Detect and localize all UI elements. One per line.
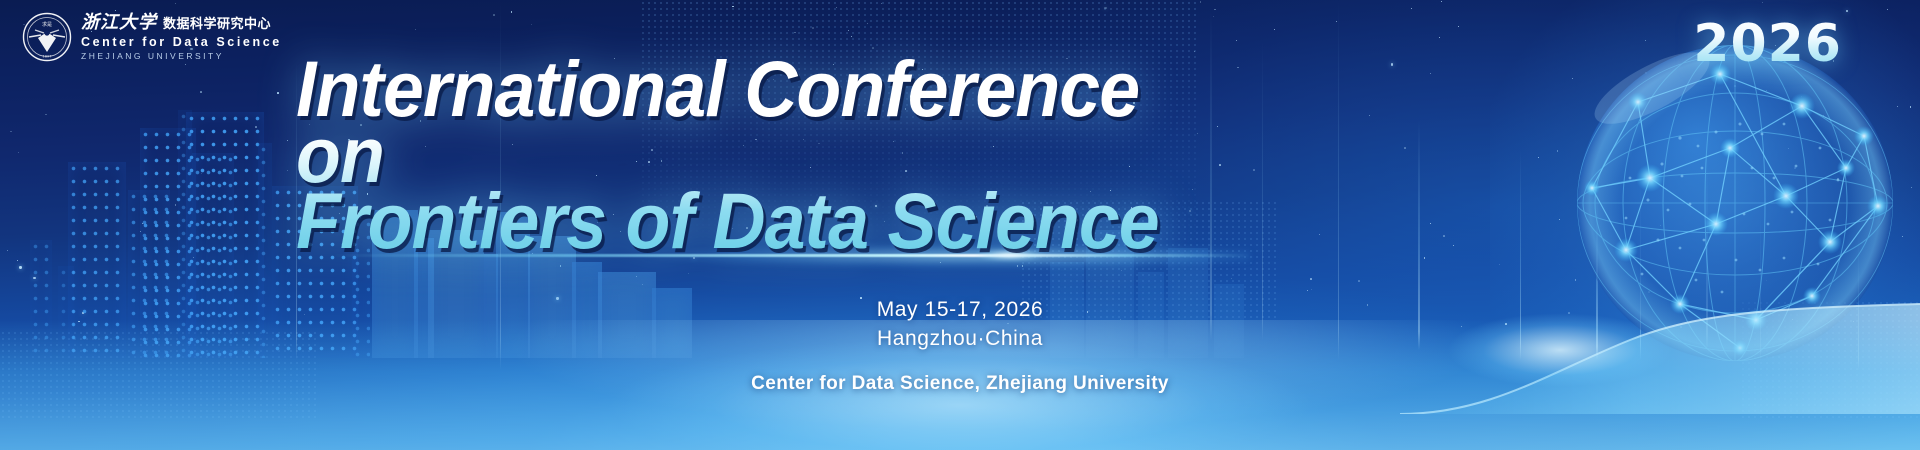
star-particle — [7, 250, 8, 251]
star-particle — [836, 7, 837, 8]
star-particle — [1214, 9, 1216, 11]
star-particle — [1307, 290, 1308, 291]
star-particle — [1630, 110, 1632, 112]
svg-text:求是: 求是 — [42, 21, 52, 28]
star-particle — [33, 277, 35, 279]
star-particle — [1538, 157, 1539, 158]
logo-lockup[interactable]: 求是 1897 浙江大学 数据科学研究中心 Center for Data Sc… — [22, 12, 282, 62]
star-particle — [1575, 279, 1577, 281]
zhejiang-university-crest-icon: 求是 1897 — [22, 12, 72, 62]
star-particle — [1411, 8, 1412, 9]
star-particle — [1311, 289, 1312, 290]
star-particle — [1236, 40, 1238, 42]
star-particle — [17, 260, 18, 261]
star-particle — [1391, 63, 1393, 65]
star-particle — [1430, 73, 1432, 75]
star-particle — [1559, 219, 1560, 220]
star-particle — [1557, 150, 1559, 152]
star-particle — [1823, 115, 1825, 117]
star-particle — [1660, 225, 1661, 226]
star-particle — [201, 173, 202, 174]
star-particle — [642, 284, 644, 286]
star-particle — [1443, 235, 1445, 237]
star-particle — [812, 27, 814, 29]
star-particle — [1404, 147, 1406, 149]
star-particle — [1274, 29, 1276, 31]
star-particle — [277, 92, 279, 94]
star-particle — [1310, 278, 1312, 280]
star-particle — [1336, 21, 1337, 22]
star-particle — [1369, 115, 1370, 116]
star-particle — [511, 11, 513, 13]
star-particle — [415, 29, 416, 30]
event-details: May 15-17, 2026 Hangzhou·China Center fo… — [0, 296, 1920, 395]
logo-center-cn: 数据科学研究中心 — [163, 18, 271, 31]
star-particle — [18, 152, 19, 153]
star-particle — [142, 223, 143, 224]
star-particle — [1231, 278, 1232, 279]
star-particle — [1499, 264, 1500, 265]
star-particle — [493, 14, 495, 16]
star-particle — [1846, 10, 1848, 12]
logo-text-block: 浙江大学 数据科学研究中心 Center for Data Science ZH… — [81, 13, 282, 62]
light-streak — [1262, 40, 1263, 340]
page-title: International Conference on Frontiers of… — [296, 56, 1226, 254]
star-particle — [1237, 67, 1239, 69]
star-particle — [867, 23, 868, 24]
star-particle — [19, 266, 21, 268]
star-particle — [1439, 37, 1440, 38]
event-host: Center for Data Science, Zhejiang Univer… — [0, 373, 1920, 395]
star-particle — [1762, 2, 1763, 3]
star-particle — [287, 140, 288, 141]
star-particle — [1458, 26, 1459, 27]
star-particle — [881, 3, 883, 5]
star-particle — [1902, 236, 1903, 237]
star-particle — [1645, 72, 1647, 74]
star-particle — [1887, 9, 1888, 10]
star-particle — [140, 231, 142, 233]
event-location: Hangzhou·China — [0, 324, 1920, 353]
star-particle — [1788, 148, 1790, 150]
star-particle — [1910, 106, 1912, 108]
star-particle — [1358, 280, 1360, 282]
star-particle — [732, 6, 734, 8]
conference-banner: 求是 1897 浙江大学 数据科学研究中心 Center for Data Sc… — [0, 0, 1920, 450]
star-particle — [1766, 90, 1767, 91]
star-particle — [175, 3, 176, 4]
star-particle — [1213, 16, 1214, 17]
star-particle — [10, 131, 12, 133]
star-particle — [1572, 78, 1573, 79]
star-particle — [175, 204, 177, 206]
star-particle — [1453, 245, 1455, 247]
star-particle — [1911, 187, 1912, 188]
star-particle — [794, 32, 796, 34]
star-particle — [1200, 1, 1202, 3]
svg-text:1897: 1897 — [42, 55, 51, 59]
logo-university-en: ZHEJIANG UNIVERSITY — [81, 50, 282, 62]
star-particle — [1897, 106, 1898, 107]
star-particle — [45, 114, 47, 116]
star-particle — [1734, 85, 1736, 87]
star-particle — [1319, 234, 1320, 235]
star-particle — [1794, 167, 1796, 169]
star-particle — [1766, 280, 1767, 281]
year-badge: 2026 — [1693, 14, 1842, 74]
logo-university-cn: 浙江大学 — [81, 14, 157, 32]
star-particle — [1424, 257, 1426, 259]
star-particle — [636, 276, 637, 277]
star-particle — [848, 30, 850, 32]
star-particle — [1645, 40, 1646, 41]
star-particle — [287, 170, 288, 171]
star-particle — [1430, 223, 1431, 224]
star-particle — [255, 126, 257, 128]
star-particle — [200, 91, 202, 93]
star-particle — [1837, 178, 1839, 180]
star-particle — [1104, 7, 1106, 9]
star-particle — [531, 24, 532, 25]
star-particle — [115, 10, 116, 11]
star-particle — [851, 36, 852, 37]
star-particle — [1441, 1, 1442, 2]
star-particle — [193, 257, 194, 258]
star-particle — [1648, 291, 1650, 293]
event-dates: May 15-17, 2026 — [0, 296, 1920, 324]
star-particle — [1253, 169, 1255, 171]
logo-center-en: Center for Data Science — [81, 35, 282, 50]
star-particle — [185, 64, 186, 65]
star-particle — [1194, 51, 1195, 52]
star-particle — [1801, 96, 1802, 97]
